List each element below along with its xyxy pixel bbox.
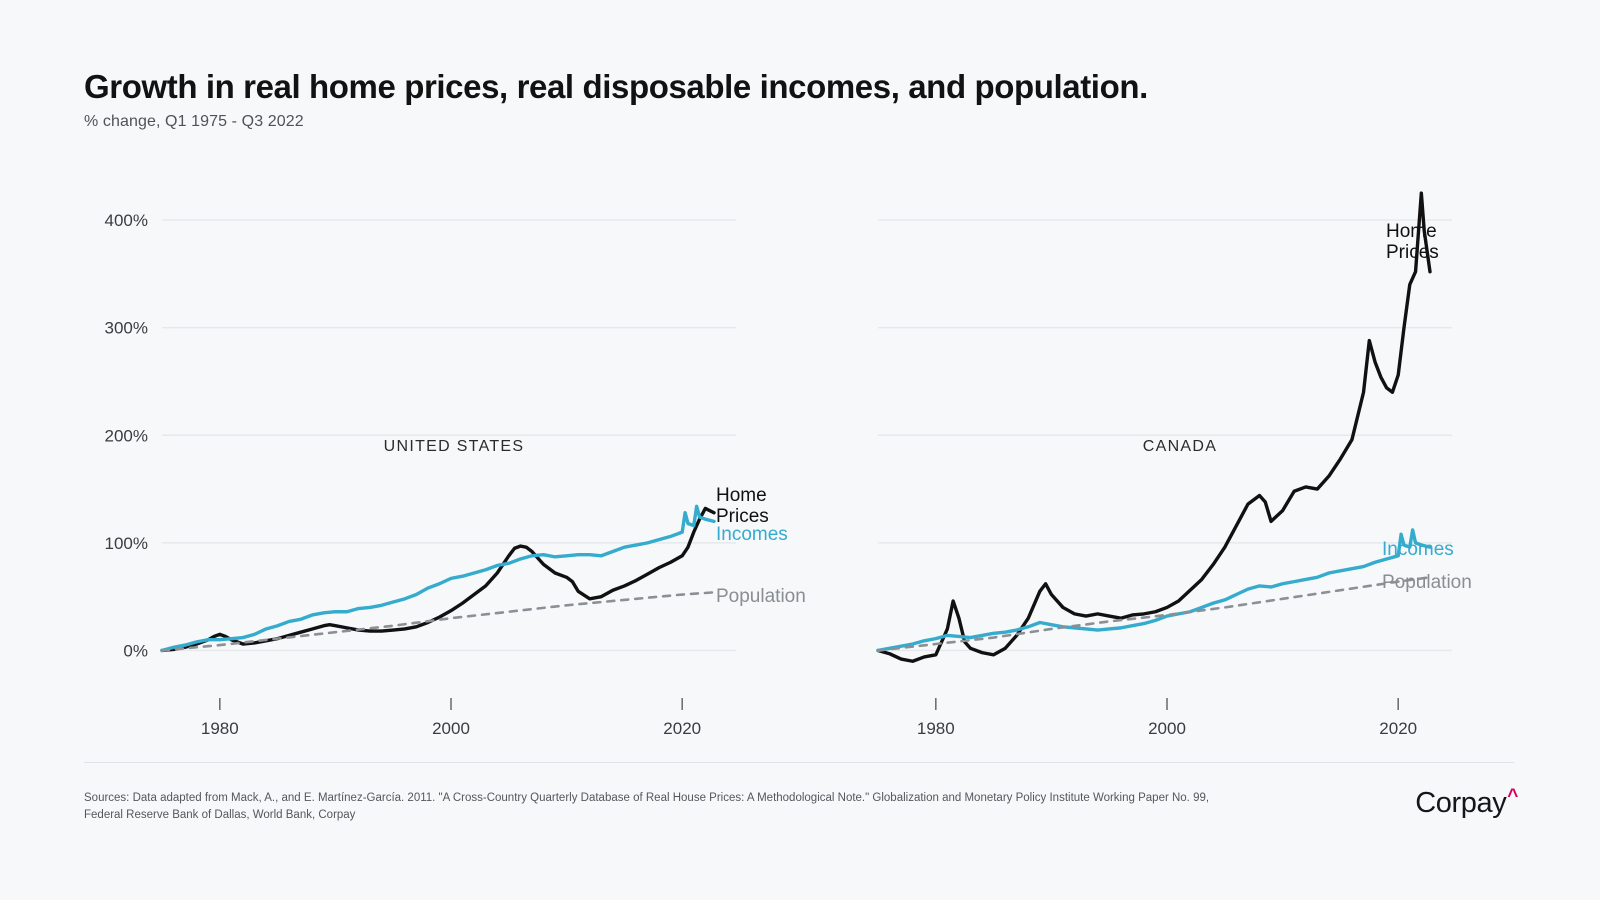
series-line-home-prices — [878, 193, 1430, 661]
series-label-population-us: Population — [716, 587, 806, 608]
y-axis-tick-label: 300% — [821, 319, 864, 338]
series-line-population — [162, 592, 714, 650]
sources-line-2: Federal Reserve Bank of Dallas, World Ba… — [84, 807, 1294, 824]
y-axis-tick-label: 100% — [821, 534, 864, 553]
y-axis-tick-label: 0% — [123, 641, 148, 660]
series-label-population-canada: Population — [1382, 573, 1472, 594]
chart-panel-united-states: 0%100%200%300%400%198020002020 UNITED ST… — [84, 150, 824, 740]
panel-title-canada: CANADA — [800, 438, 1550, 456]
series-label-home-prices-us: HomePrices — [716, 486, 769, 527]
y-axis-tick-label: 400% — [821, 211, 864, 230]
charts-container: 0%100%200%300%400%198020002020 UNITED ST… — [0, 150, 1600, 740]
chart-panel-canada: 0%100%200%300%400%198020002020 CANADA Ho… — [800, 150, 1540, 740]
x-axis-tick-label: 2000 — [432, 719, 470, 738]
corpay-logo-text: Corpay — [1415, 787, 1506, 819]
series-label-home-prices-canada: HomePrices — [1386, 222, 1439, 263]
sources-line-1: Sources: Data adapted from Mack, A., and… — [84, 790, 1294, 807]
x-axis-tick-label: 2020 — [663, 719, 701, 738]
page-subtitle: % change, Q1 1975 - Q3 2022 — [84, 113, 1504, 131]
series-label-incomes-canada: Incomes — [1382, 540, 1454, 561]
y-axis-tick-label: 400% — [105, 211, 148, 230]
header: Growth in real home prices, real disposa… — [84, 68, 1504, 131]
corpay-caret-icon: ^ — [1507, 786, 1518, 807]
series-line-population — [878, 577, 1430, 650]
x-axis-tick-label: 2020 — [1379, 719, 1417, 738]
y-axis-tick-label: 0% — [839, 641, 864, 660]
y-axis-tick-label: 100% — [105, 534, 148, 553]
sources-note: Sources: Data adapted from Mack, A., and… — [84, 790, 1294, 825]
y-axis-tick-label: 300% — [105, 319, 148, 338]
x-axis-tick-label: 1980 — [917, 719, 955, 738]
series-label-incomes-us: Incomes — [716, 525, 788, 546]
x-axis-tick-label: 1980 — [201, 719, 239, 738]
page-title: Growth in real home prices, real disposa… — [84, 68, 1504, 106]
series-line-incomes — [162, 506, 714, 650]
x-axis-tick-label: 2000 — [1148, 719, 1186, 738]
infographic-page: Growth in real home prices, real disposa… — [0, 0, 1600, 900]
series-line-home-prices — [162, 508, 714, 650]
panel-title-united-states: UNITED STATES — [84, 438, 824, 456]
corpay-logo: Corpay^ — [1415, 786, 1518, 820]
footer-divider — [84, 762, 1514, 763]
